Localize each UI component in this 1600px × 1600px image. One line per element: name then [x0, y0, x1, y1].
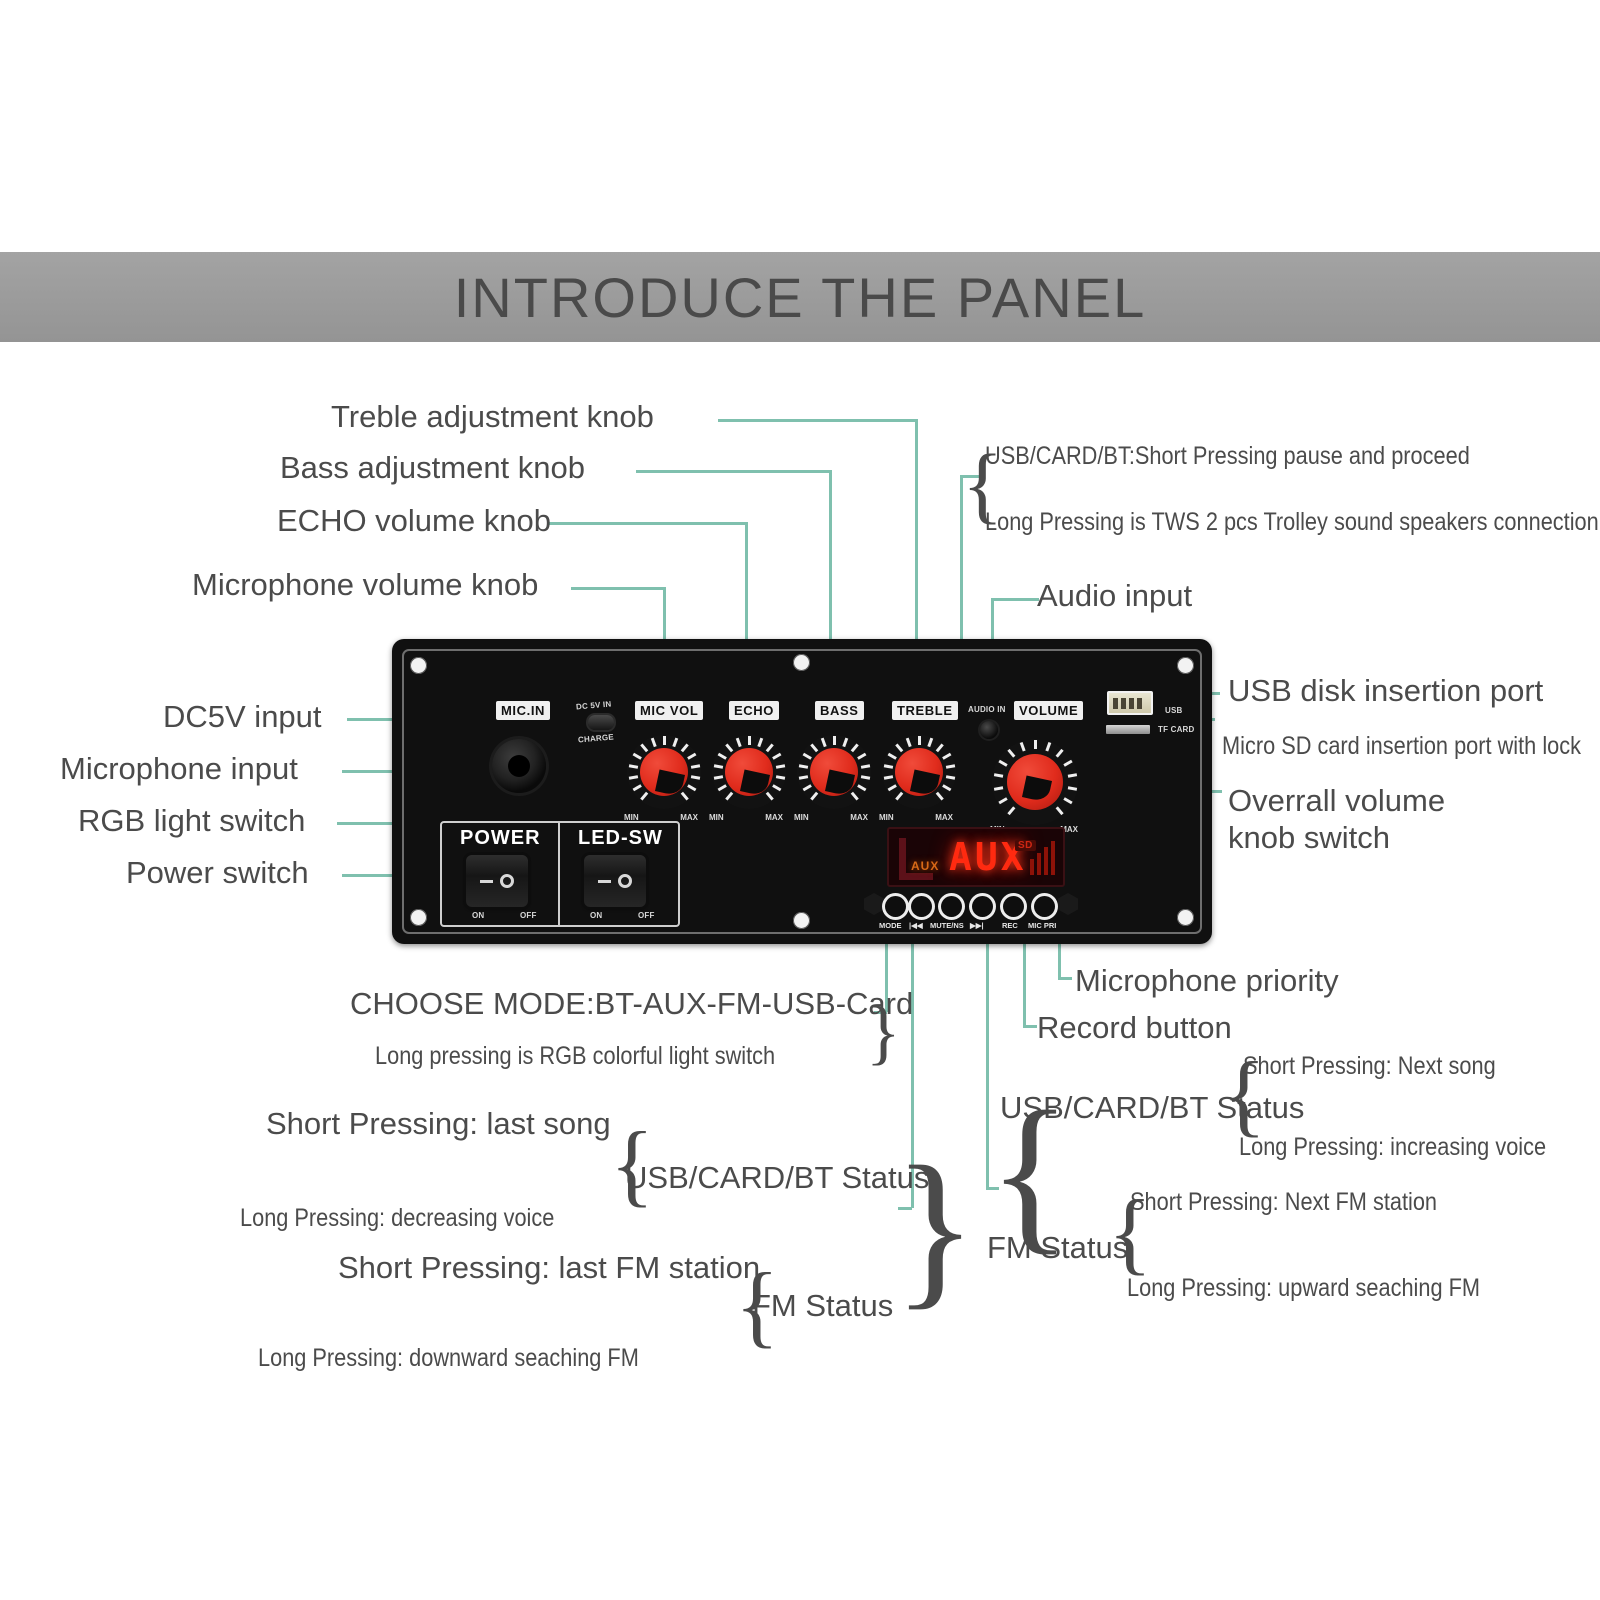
tf-card-slot[interactable]	[1106, 725, 1150, 734]
amplifier-panel: MIC.IN DC 5V IN CHARGE MIC VOL MIN MAX	[392, 639, 1212, 944]
callout-fm-status-left: FM Status	[752, 1290, 893, 1323]
mic-in-label: MIC.IN	[496, 701, 550, 720]
knob-label-treble: TREBLE	[892, 701, 958, 720]
callout-long-upward: Long Pressing: upward seaching FM	[1127, 1275, 1480, 1301]
knob-max-label: MAX	[765, 813, 783, 822]
knob-max-label: MAX	[680, 813, 698, 822]
button-label-record: REC	[1002, 921, 1018, 930]
callout-dc5v: DC5V input	[163, 701, 322, 734]
leader-treble-h	[718, 419, 918, 422]
led-level-bars	[1030, 841, 1055, 875]
button-mute[interactable]	[941, 896, 962, 917]
button-mode[interactable]	[885, 896, 906, 917]
callout-short-next-song: Short Pressing: Next song	[1243, 1053, 1496, 1079]
microphone-input-jack[interactable]	[492, 739, 546, 793]
callout-power-switch: Power switch	[126, 857, 309, 890]
knob-max-label: MAX	[850, 813, 868, 822]
knob-label-bass: BASS	[815, 701, 864, 720]
callout-long-decreasing: Long Pressing: decreasing voice	[240, 1205, 554, 1231]
button-next[interactable]	[972, 896, 993, 917]
knob-treble[interactable]	[882, 735, 956, 809]
leader-micpri-h	[1058, 977, 1072, 980]
callout-short-next-fm: Short Pressing: Next FM station	[1130, 1189, 1437, 1215]
callout-long-press-rgb: Long pressing is RGB colorful light swit…	[375, 1043, 775, 1069]
led-off-label: OFF	[638, 911, 655, 920]
callout-short-last-fm: Short Pressing: last FM station	[338, 1252, 760, 1285]
page-header-band: INTRODUCE THE PANEL	[0, 252, 1600, 342]
callout-mic-input: Microphone input	[60, 753, 298, 786]
callout-mic-volume: Microphone volume knob	[192, 569, 538, 602]
audio-input-jack[interactable]	[980, 721, 998, 739]
screw-bottom-left	[410, 909, 427, 926]
knob-max-label: MAX	[935, 813, 953, 822]
button-label-mute: MUTE/NS	[930, 921, 964, 930]
button-label-mode: MODE	[879, 921, 902, 930]
callout-usb-status-left: USB/CARD/BT Status	[625, 1162, 929, 1195]
usb-port-label: USB	[1165, 706, 1183, 715]
button-previous[interactable]	[911, 896, 932, 917]
power-off-label: OFF	[520, 911, 537, 920]
screw-bottom-right	[1177, 909, 1194, 926]
leader-bass-h	[636, 470, 832, 473]
callout-audio-input: Audio input	[1037, 580, 1192, 613]
knob-body-bass	[810, 748, 858, 796]
screw-bottom-center	[793, 912, 810, 929]
callout-long-downward: Long Pressing: downward seaching FM	[258, 1345, 639, 1371]
usb-port[interactable]	[1107, 691, 1153, 715]
button-record[interactable]	[1003, 896, 1024, 917]
knob-min-label: MIN	[794, 813, 809, 822]
knob-body-echo	[725, 748, 773, 796]
knob-min-label: MIN	[879, 813, 894, 822]
leader-audioin-h	[991, 598, 1039, 601]
callout-treble: Treble adjustment knob	[331, 401, 654, 434]
dc5v-input-jack[interactable]	[588, 715, 614, 730]
led-on-label: ON	[590, 911, 602, 920]
power-on-label: ON	[472, 911, 484, 920]
button-mic-priority[interactable]	[1034, 896, 1055, 917]
page-title: INTRODUCE THE PANEL	[454, 265, 1146, 330]
knob-body-treble	[895, 748, 943, 796]
knob-bass[interactable]	[797, 735, 871, 809]
knob-minmax-echo: MIN MAX	[709, 813, 783, 822]
led-display: AUX AUX SD	[887, 827, 1065, 887]
knob-mic-volume[interactable]	[627, 735, 701, 809]
power-switch-rocker[interactable]	[466, 855, 528, 907]
button-label-mic-priority: MIC PRI	[1028, 921, 1056, 930]
power-on-icon	[480, 880, 493, 883]
knob-volume[interactable]	[992, 739, 1078, 825]
led-sw-label: LED-SW	[578, 827, 663, 850]
screw-top-right	[1177, 657, 1194, 674]
callout-usb-card-bt-long: Long Pressing is TWS 2 pcs Trolley sound…	[985, 509, 1599, 535]
callout-long-increasing: Long Pressing: increasing voice	[1239, 1134, 1546, 1160]
callout-choose-mode: CHOOSE MODE:BT-AUX-FM-USB-Card	[350, 988, 913, 1021]
callout-usb-card-bt-short: USB/CARD/BT:Short Pressing pause and pro…	[985, 443, 1470, 469]
callout-record-button: Record button	[1037, 1012, 1232, 1045]
button-label-next: ▶▶|	[970, 921, 984, 930]
knob-echo[interactable]	[712, 735, 786, 809]
knob-minmax-bass: MIN MAX	[794, 813, 868, 822]
tf-card-label: TF CARD	[1158, 725, 1195, 734]
callout-echo: ECHO volume knob	[277, 505, 551, 538]
audio-in-label: AUDIO IN	[968, 705, 1006, 714]
led-switch-rocker[interactable]	[584, 855, 646, 907]
leader-rec-h	[1023, 1025, 1037, 1028]
button-label-previous: |◀◀	[909, 921, 923, 930]
callout-micro-sd-port: Micro SD card insertion port with lock	[1222, 733, 1581, 759]
knob-body-volume	[1007, 754, 1063, 810]
callout-short-last-song: Short Pressing: last song	[266, 1108, 611, 1141]
callout-overall-volume: Overrall volume knob switch	[1228, 783, 1508, 856]
knob-label-mic-vol: MIC VOL	[635, 701, 703, 720]
led-off-icon	[618, 874, 632, 888]
knob-min-label: MIN	[709, 813, 724, 822]
callout-rgb-switch: RGB light switch	[78, 805, 305, 838]
power-off-icon	[500, 874, 514, 888]
knob-label-echo: ECHO	[729, 701, 779, 720]
knob-body-mic-volume	[640, 748, 688, 796]
callout-usb-disk-port: USB disk insertion port	[1228, 675, 1543, 708]
screw-top-center	[793, 654, 810, 671]
callout-mic-priority: Microphone priority	[1075, 965, 1339, 998]
knob-label-volume: VOLUME	[1014, 701, 1083, 720]
page-root: INTRODUCE THE PANEL	[0, 0, 1600, 1600]
power-label: POWER	[460, 827, 541, 850]
knob-minmax-treble: MIN MAX	[879, 813, 953, 822]
leader-echo-h	[548, 522, 748, 525]
screw-top-left	[410, 657, 427, 674]
led-on-icon	[598, 880, 611, 883]
switch-divider	[558, 823, 560, 925]
leader-micvol-h	[571, 587, 666, 590]
callout-bass: Bass adjustment knob	[280, 452, 585, 485]
led-mode-text: AUX	[911, 859, 939, 873]
brace-outer-left: }	[893, 1140, 977, 1315]
